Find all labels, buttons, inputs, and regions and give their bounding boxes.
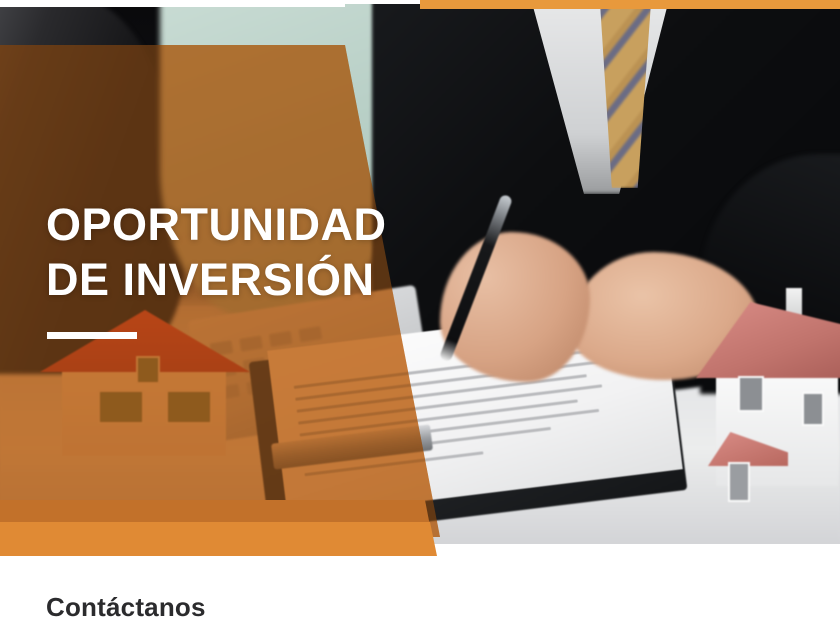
model-house-left (40, 304, 250, 474)
headline: OPORTUNIDAD DE INVERSIÓN (46, 198, 387, 308)
contact-heading: Contáctanos (46, 592, 206, 623)
headline-line-1: OPORTUNIDAD (46, 199, 387, 250)
model-house-right (690, 284, 840, 524)
headline-line-2: DE INVERSIÓN (46, 253, 387, 308)
top-white-notch (0, 0, 345, 7)
footer-bar: Contáctanos (0, 556, 840, 630)
headline-underline-rule (47, 332, 137, 339)
top-accent-bar (420, 0, 840, 9)
orange-foot-band (0, 522, 470, 556)
promo-banner-page: OPORTUNIDAD DE INVERSIÓN Contáctanos (0, 0, 840, 630)
